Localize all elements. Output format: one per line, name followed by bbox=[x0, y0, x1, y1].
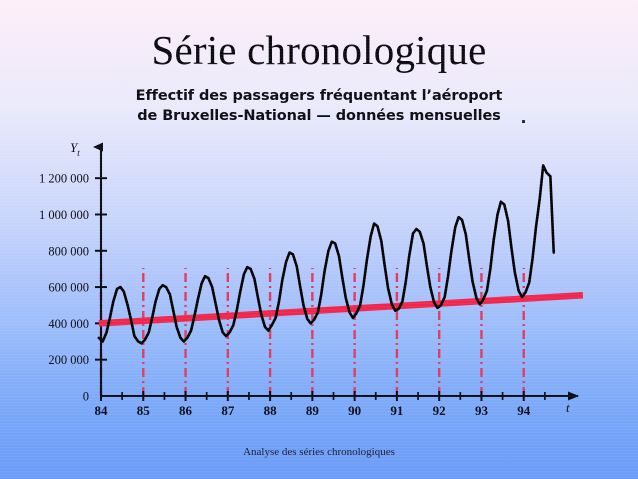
x-tick-label-1986: 86 bbox=[179, 403, 193, 418]
x-tick-label-1985: 85 bbox=[137, 403, 151, 418]
x-tick-label-1987: 87 bbox=[221, 403, 235, 418]
slide: Série chronologique Effectif des passage… bbox=[0, 0, 638, 479]
y-tick-label-800000: 800 000 bbox=[48, 244, 89, 258]
x-axis-label: t bbox=[566, 400, 570, 415]
y-tick-label-400000: 400 000 bbox=[48, 317, 89, 331]
y-tick-label-1200000: 1 200 000 bbox=[39, 172, 89, 186]
x-tick-label-1988: 88 bbox=[264, 403, 278, 418]
x-tick-label-1990: 90 bbox=[348, 403, 361, 418]
y-axis-ticks: 0200 000400 000600 000800 0001 000 0001 … bbox=[39, 172, 107, 404]
y-axis-label-subscript: t bbox=[77, 148, 80, 158]
x-tick-label-1984: 84 bbox=[95, 403, 109, 418]
time-series-chart: 0200 000400 000600 000800 0001 000 0001 … bbox=[0, 0, 638, 479]
chart-axes bbox=[101, 147, 578, 396]
slide-footer: Analyse des séries chronologiques bbox=[0, 446, 638, 458]
x-tick-label-1992: 92 bbox=[433, 403, 446, 418]
x-tick-label-1994: 94 bbox=[517, 403, 531, 418]
y-tick-label-200000: 200 000 bbox=[48, 353, 89, 367]
y-tick-label-1000000: 1 000 000 bbox=[39, 208, 89, 222]
y-axis-label: Yt bbox=[70, 140, 80, 158]
x-tick-label-1989: 89 bbox=[306, 403, 320, 418]
x-tick-label-1993: 93 bbox=[475, 403, 489, 418]
y-tick-label-600000: 600 000 bbox=[48, 281, 89, 295]
y-tick-label-0: 0 bbox=[83, 390, 89, 404]
x-tick-label-1991: 91 bbox=[390, 403, 403, 418]
